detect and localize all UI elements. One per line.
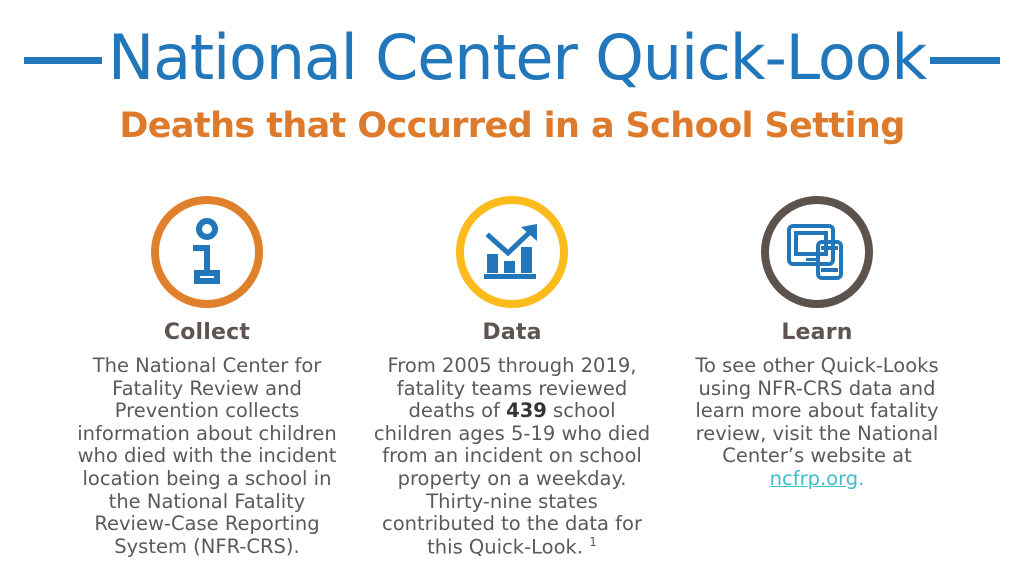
title-rule-left <box>24 57 102 64</box>
learn-label: Learn <box>781 322 852 344</box>
info-icon <box>179 218 235 286</box>
learn-body-part2: . <box>858 467 864 490</box>
collect-icon-circle <box>151 196 263 308</box>
data-body-part2: school children ages 5-19 who died from … <box>374 399 650 558</box>
data-highlight-count: 439 <box>506 399 547 422</box>
ncfrp-website-link[interactable]: ncfrp.org <box>770 467 859 490</box>
column-learn: Learn To see other Quick-Looks using NFR… <box>665 196 970 491</box>
column-collect: Collect The National Center for Fatality… <box>55 196 360 558</box>
column-data: Data From 2005 through 2019, fatality te… <box>360 196 665 559</box>
collect-body: The National Center for Fatality Review … <box>71 355 343 558</box>
data-body: From 2005 through 2019, fatality teams r… <box>371 355 653 559</box>
column-group: Collect The National Center for Fatality… <box>0 196 1024 559</box>
tablet-phone-icon <box>785 223 849 281</box>
title-rule-right <box>930 57 1000 64</box>
page-title: National Center Quick-Look <box>108 27 926 93</box>
data-icon-circle <box>456 196 568 308</box>
title-row: National Center Quick-Look <box>0 14 1024 106</box>
footnote-marker: 1 <box>589 535 597 549</box>
quick-look-infographic: National Center Quick-Look Deaths that O… <box>0 0 1024 573</box>
learn-body-part1: To see other Quick-Looks using NFR-CRS d… <box>695 354 938 467</box>
data-label: Data <box>482 322 541 344</box>
collect-label: Collect <box>164 322 250 344</box>
learn-body: To see other Quick-Looks using NFR-CRS d… <box>692 355 942 491</box>
learn-icon-circle <box>761 196 873 308</box>
page-subtitle: Deaths that Occurred in a School Setting <box>0 106 1024 146</box>
bar-chart-growth-icon <box>481 222 543 282</box>
